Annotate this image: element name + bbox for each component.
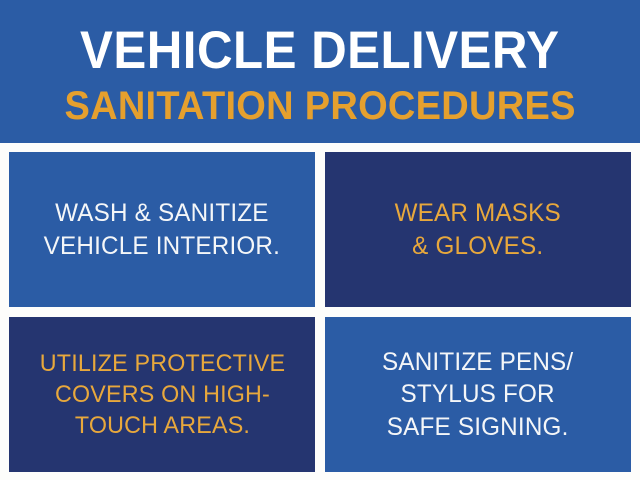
panel-wash-sanitize-interior: WASH & SANITIZE VEHICLE INTERIOR. (9, 152, 315, 307)
poster-title-primary: VEHICLE DELIVERY (80, 24, 559, 77)
panel-protective-covers: UTILIZE PROTECTIVE COVERS ON HIGH- TOUCH… (9, 317, 315, 472)
poster-title-secondary: SANITATION PROCEDURES (64, 86, 575, 126)
poster-header: VEHICLE DELIVERY SANITATION PROCEDURES (0, 0, 640, 143)
panel-text: SANITIZE PENS/ STYLUS FOR SAFE SIGNING. (382, 346, 573, 444)
procedure-panel-grid: WASH & SANITIZE VEHICLE INTERIOR. WEAR M… (9, 152, 631, 472)
panel-wear-masks-gloves: WEAR MASKS & GLOVES. (325, 152, 631, 307)
panel-text: UTILIZE PROTECTIVE COVERS ON HIGH- TOUCH… (39, 348, 284, 442)
infographic-poster: VEHICLE DELIVERY SANITATION PROCEDURES W… (0, 0, 640, 480)
panel-text: WASH & SANITIZE VEHICLE INTERIOR. (44, 197, 280, 262)
panel-sanitize-pens-stylus: SANITIZE PENS/ STYLUS FOR SAFE SIGNING. (325, 317, 631, 472)
panel-text: WEAR MASKS & GLOVES. (395, 197, 561, 262)
